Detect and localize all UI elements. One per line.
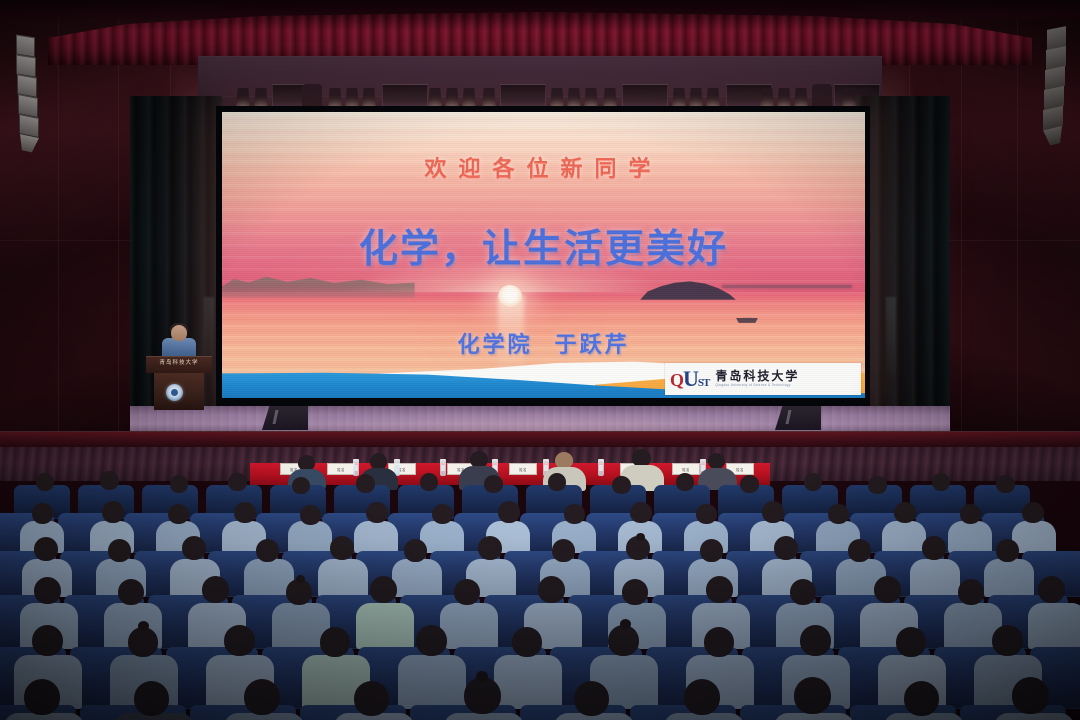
- setting-sun-icon: [498, 285, 522, 307]
- floor-monitor-wedge-right: [775, 406, 821, 430]
- presentation-slide: Q U ST 青岛科技大学 Qingdao University of Scie…: [222, 112, 865, 398]
- slide-title: 化学，让生活更美好: [222, 218, 865, 274]
- presenter-unit: 化学院: [457, 333, 532, 358]
- audience-area: [0, 447, 1080, 720]
- distant-land-icon: [722, 285, 852, 288]
- side-curtain-right: [858, 96, 950, 411]
- small-boat-icon: [736, 318, 758, 323]
- floor-monitor-wedge-left: [262, 406, 308, 430]
- logo-letter-u: U: [683, 368, 698, 390]
- logo-wordmark: 青岛科技大学 Qingdao University of Science & T…: [715, 370, 799, 387]
- auditorium-photo: Q U ST 青岛科技大学 Qingdao University of Scie…: [0, 0, 1080, 720]
- stage-front-edge: [0, 431, 1080, 447]
- line-array-speaker-right: [1040, 28, 1074, 158]
- led-screen[interactable]: Q U ST 青岛科技大学 Qingdao University of Scie…: [216, 106, 870, 406]
- logo-name-en: Qingdao University of Science & Technolo…: [715, 384, 799, 387]
- slide-welcome-line: 欢迎各位新同学: [222, 151, 865, 183]
- university-emblem-icon: [166, 384, 183, 401]
- logo-name-cn: 青岛科技大学: [715, 370, 799, 382]
- logo-letter-q: Q: [670, 371, 683, 389]
- podium: 青岛科技大学: [146, 344, 212, 410]
- logo-acronym: Q U ST: [670, 368, 709, 390]
- presenter-name: 于跃芹: [555, 333, 630, 358]
- presenter-head: [171, 325, 187, 341]
- podium-plaque: 青岛科技大学: [146, 358, 212, 366]
- university-logo: Q U ST 青岛科技大学 Qingdao University of Scie…: [665, 363, 861, 395]
- slide-presenter-line: 化学院于跃芹: [222, 327, 865, 359]
- logo-letters-st: ST: [698, 378, 709, 389]
- line-array-speaker-left: [8, 36, 42, 166]
